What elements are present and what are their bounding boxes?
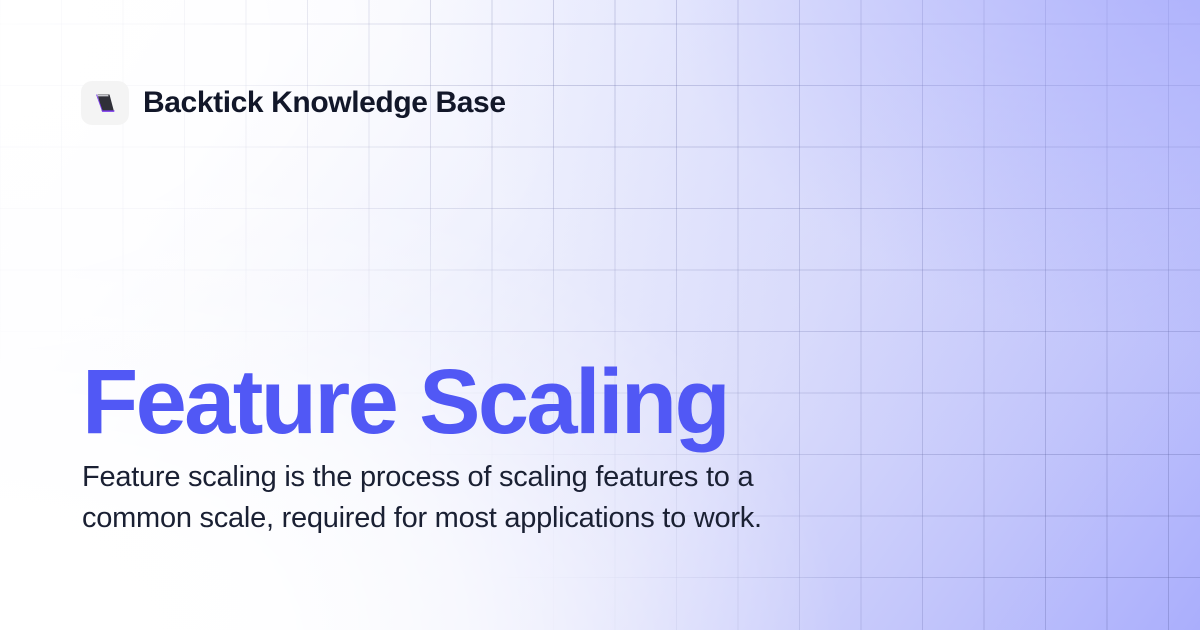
page-title: Feature Scaling (82, 356, 728, 448)
og-card-canvas: Backtick Knowledge Base Feature Scaling … (0, 0, 1200, 630)
brand-name: Backtick Knowledge Base (143, 88, 506, 118)
brand-header: Backtick Knowledge Base (81, 81, 506, 125)
page-description: Feature scaling is the process of scalin… (82, 457, 850, 539)
card-content: Backtick Knowledge Base Feature Scaling … (0, 0, 1200, 630)
backtick-slash-logo-icon (81, 81, 129, 125)
